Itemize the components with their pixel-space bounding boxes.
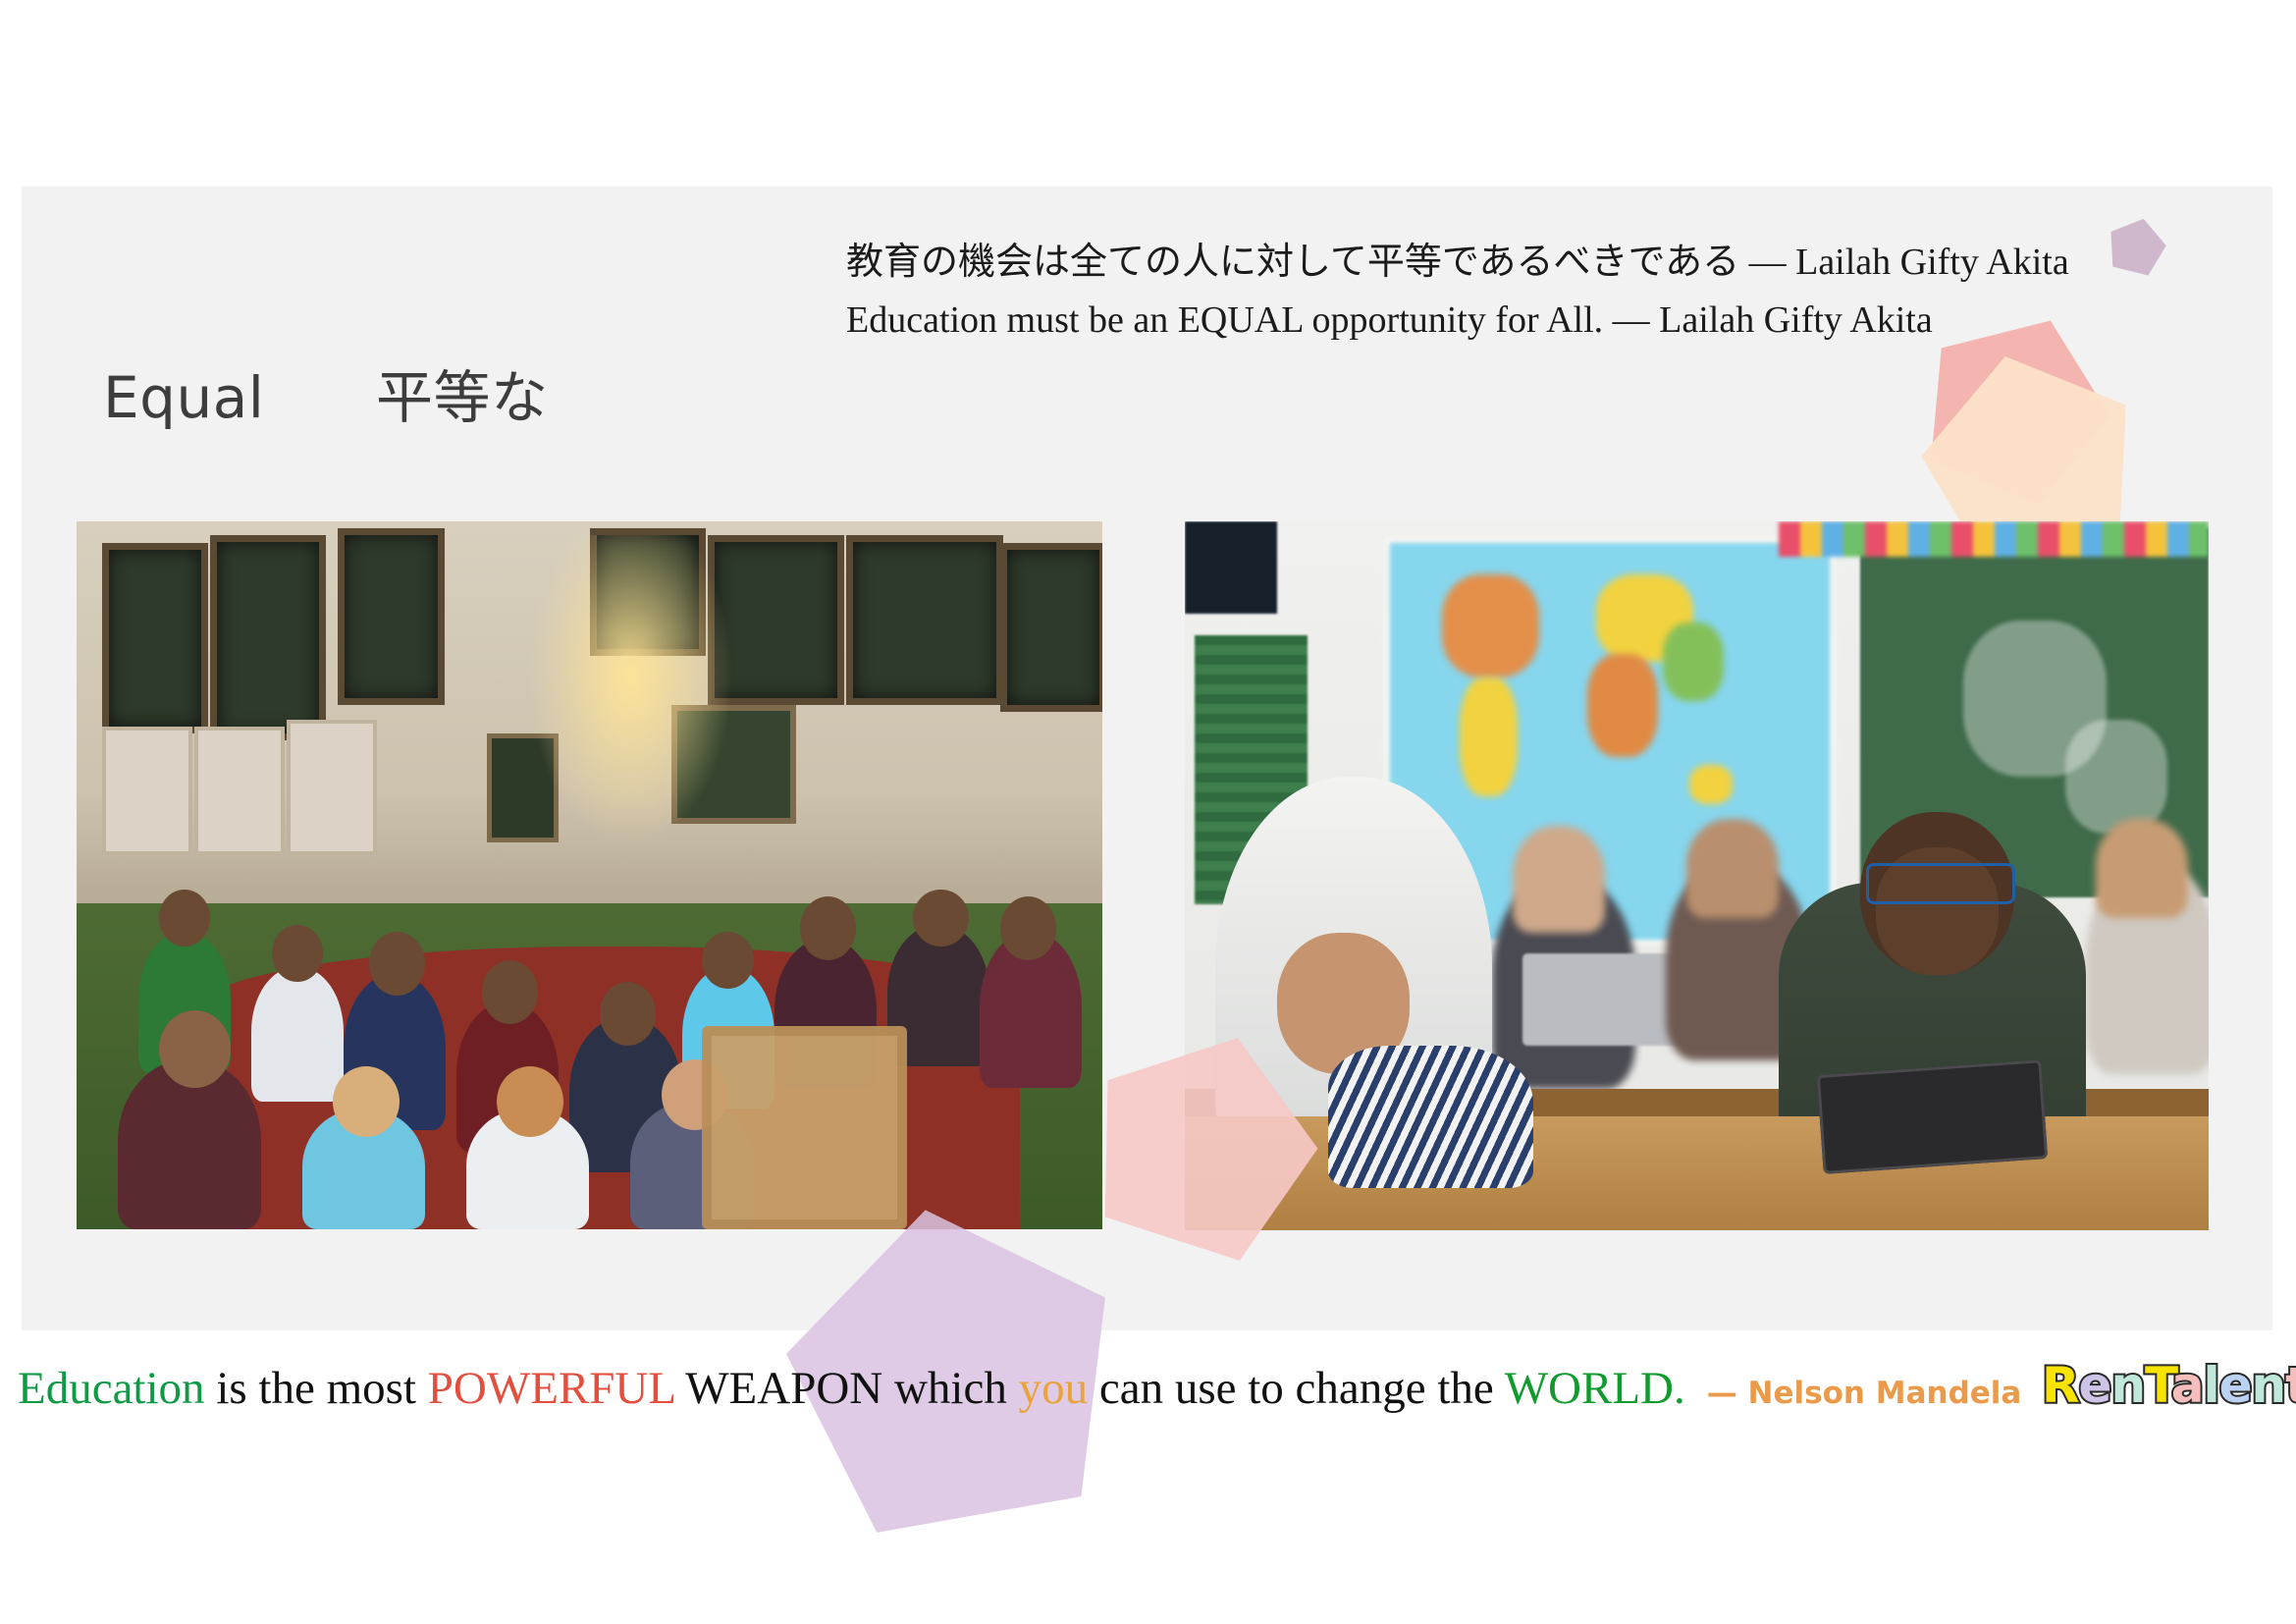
photo-left-child-head — [482, 960, 538, 1024]
logo-letter: l — [2203, 1357, 2218, 1414]
bottom-quote: Education is the most POWERFUL WEAPON wh… — [18, 1364, 2030, 1415]
slide-title-line-1: Equal 平等な — [103, 363, 849, 433]
photo-right-student-blurred — [1686, 819, 1779, 918]
photo-right-map-continent — [1460, 677, 1517, 796]
photo-right-boy-glasses — [1866, 863, 2015, 904]
photo-left-child-head — [159, 890, 210, 947]
bottom-quote-world: WORLD. — [1505, 1363, 1685, 1414]
photo-right-tablet — [1816, 1059, 2048, 1174]
logo-letter: T — [2145, 1357, 2171, 1414]
photo-left-child-head — [913, 890, 969, 947]
photo-left-poster — [287, 720, 377, 855]
logo-letter: e — [2079, 1357, 2111, 1414]
photo-left-window — [846, 535, 1003, 705]
photo-left-child-head — [600, 982, 656, 1046]
photo-left-child-head — [369, 932, 425, 996]
photo-left-window — [102, 543, 208, 733]
photo-children-seated-classroom-floor — [77, 521, 1102, 1229]
photo-left-adult-head — [159, 1010, 231, 1088]
photo-left-window — [1000, 543, 1103, 713]
photo-right-map-continent — [1663, 623, 1725, 702]
photo-left-wooden-chair — [702, 1026, 906, 1229]
photo-left-child-head — [800, 896, 856, 960]
photo-left-child-head — [272, 925, 323, 982]
bottom-quote-attribution: — Nelson Mandela — [1707, 1376, 2022, 1411]
photo-right-chalk-drawing — [2065, 720, 2167, 834]
photo-right-wall-strip — [1185, 521, 1277, 614]
photo-left-poster — [102, 727, 192, 855]
photo-left-window — [210, 535, 327, 740]
bottom-quote-text-3: can use to change the — [1088, 1363, 1505, 1414]
photo-right-map-continent — [1587, 654, 1658, 757]
photo-left-poster — [194, 727, 285, 855]
photo-left-child-head — [333, 1066, 400, 1137]
top-quote-english: Education must be an EQUAL opportunity f… — [846, 292, 2152, 350]
photo-right-girl-striped-sleeve — [1328, 1046, 1533, 1187]
logo-letter: R — [2042, 1357, 2079, 1414]
photo-left-child-head — [1000, 896, 1056, 960]
logo-letter: n — [2252, 1357, 2286, 1414]
logo-letter: t — [2285, 1357, 2296, 1414]
bottom-quote-powerful: POWERFUL — [428, 1363, 675, 1414]
photo-left-child-head — [702, 932, 753, 989]
photo-left-window — [338, 528, 444, 705]
photo-students-with-tablets-classroom — [1185, 521, 2209, 1230]
logo-letter: e — [2219, 1357, 2252, 1414]
bottom-quote-education: Education — [18, 1363, 205, 1414]
photo-right-bunting — [1779, 521, 2209, 557]
photo-right-map-continent — [1689, 765, 1734, 804]
top-quote-block: 教育の機会は全ての人に対して平等であるべきである ― Lailah Gifty … — [846, 234, 2152, 350]
logo-letter: n — [2110, 1357, 2145, 1414]
bottom-quote-text-2: WEAPON which — [674, 1363, 1018, 1414]
bottom-quote-text-1: is the most — [205, 1363, 428, 1414]
top-quote-japanese: 教育の機会は全ての人に対して平等であるべきである ― Lailah Gifty … — [846, 234, 2152, 292]
photo-right-student-blurred — [1513, 826, 1605, 932]
photo-right-map-continent — [1442, 574, 1539, 677]
photo-right-tablet-blurred — [1522, 953, 1686, 1046]
rentalent-logo[interactable]: RenTalent — [2042, 1357, 2296, 1414]
bottom-quote-you: you — [1019, 1363, 1089, 1414]
photo-left-child — [251, 967, 344, 1102]
photo-left-window-glow — [528, 535, 733, 846]
photo-right-student-blurred — [2096, 819, 2188, 918]
logo-letter: a — [2171, 1357, 2204, 1414]
